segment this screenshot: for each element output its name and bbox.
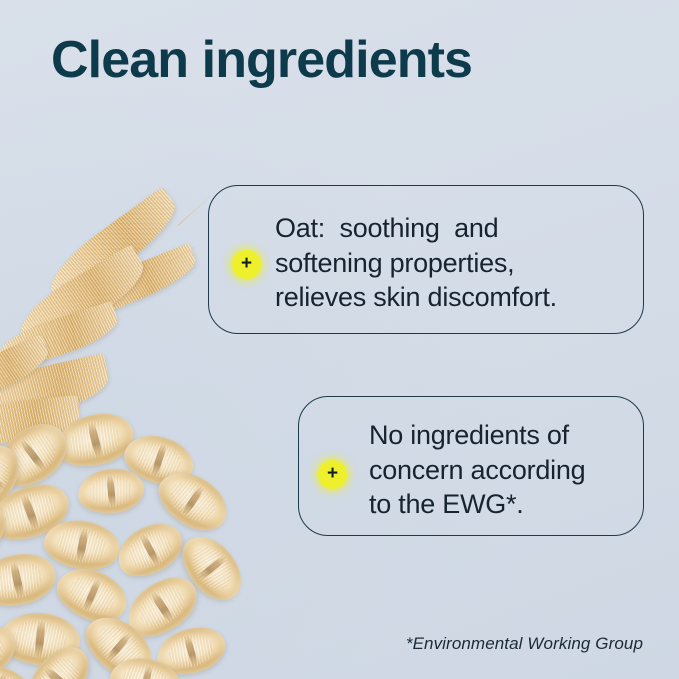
oat-flake xyxy=(51,406,139,473)
ewg-text: No ingredients of concern according to t… xyxy=(369,418,585,522)
oat-flake xyxy=(75,605,163,679)
oat-flake xyxy=(76,466,146,517)
oat-benefit-line-3: relieves skin discomfort. xyxy=(275,282,557,312)
oat-flake xyxy=(0,475,76,549)
oat-husk xyxy=(0,334,54,410)
product-feature-graphic: Clean ingredients Oat: soothing and soft… xyxy=(0,0,679,679)
oat-benefit-text: Oat: soothing and softening properties, … xyxy=(275,211,557,315)
oat-benefit-line-1: Oat: soothing and xyxy=(275,213,498,243)
plus-badge-ewg[interactable]: + xyxy=(318,460,347,489)
oat-husk xyxy=(0,395,82,447)
oat-flake xyxy=(0,655,40,679)
oat-flake xyxy=(16,636,100,679)
footnote: *Environmental Working Group xyxy=(406,634,643,654)
oat-flake xyxy=(0,436,29,522)
ewg-line-2: concern according xyxy=(369,455,585,485)
oat-benefit-line-2: softening properties, xyxy=(275,248,514,278)
oat-flake xyxy=(109,514,191,587)
plus-icon: + xyxy=(241,254,252,273)
page-title: Clean ingredients xyxy=(51,29,472,91)
background-wash xyxy=(0,0,679,679)
oat-awn xyxy=(99,411,110,444)
oat-husk xyxy=(11,244,154,354)
oat-flake xyxy=(172,525,253,610)
oat-flake xyxy=(106,651,187,679)
oat-husk xyxy=(0,353,113,428)
plus-icon: + xyxy=(327,464,338,483)
oat-flake xyxy=(0,412,78,499)
plus-badge-oat-benefit[interactable]: + xyxy=(232,250,261,279)
oat-husk xyxy=(0,301,123,374)
oat-flake xyxy=(0,560,3,638)
oat-flake xyxy=(0,609,82,669)
oat-flake xyxy=(149,460,237,541)
ewg-card[interactable]: No ingredients of concern according to t… xyxy=(298,396,644,536)
oat-husk xyxy=(63,243,202,325)
oat-flake xyxy=(151,620,230,679)
ewg-line-1: No ingredients of xyxy=(369,420,569,450)
oat-flake xyxy=(40,515,123,575)
ewg-line-3: to the EWG*. xyxy=(369,489,524,519)
oat-flake xyxy=(49,558,134,631)
oat-flake xyxy=(0,547,60,612)
oat-flake xyxy=(117,566,207,648)
oat-flake xyxy=(119,427,200,492)
oat-benefit-card[interactable]: Oat: soothing and softening properties, … xyxy=(208,185,644,334)
oat-flake xyxy=(0,493,16,575)
oat-awn xyxy=(166,243,201,264)
oat-flake xyxy=(0,616,25,679)
oat-husk xyxy=(41,187,186,308)
